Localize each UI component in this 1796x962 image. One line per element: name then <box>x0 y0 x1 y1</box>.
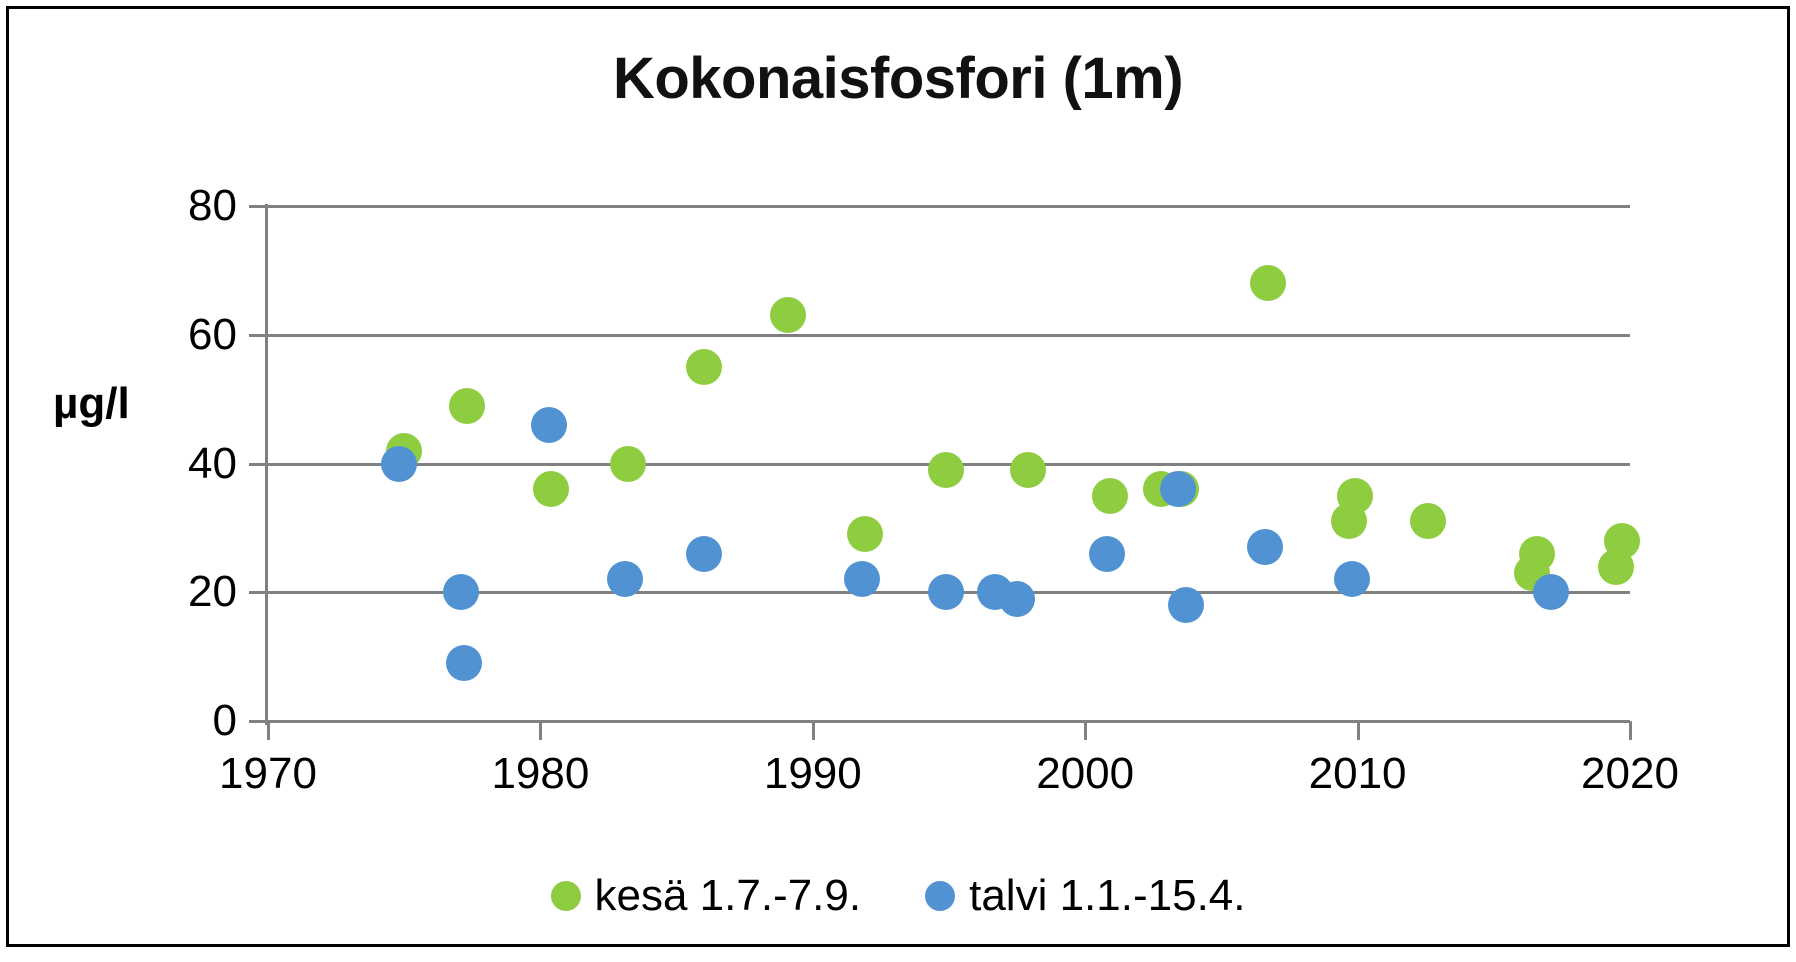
data-point-kesa-4 <box>686 349 722 385</box>
data-point-talvi-7 <box>928 574 964 610</box>
data-point-kesa-14 <box>1337 478 1373 514</box>
data-point-talvi-6 <box>844 561 880 597</box>
x-tick-1980 <box>539 721 542 740</box>
y-tick-20 <box>249 591 268 594</box>
data-point-talvi-4 <box>607 561 643 597</box>
x-tick-1990 <box>812 721 815 740</box>
data-point-kesa-6 <box>847 516 883 552</box>
x-tick-label-2020: 2020 <box>1581 749 1679 799</box>
y-tick-60 <box>249 334 268 337</box>
data-point-talvi-1 <box>443 574 479 610</box>
legend-label: kesä 1.7.-7.9. <box>595 871 862 921</box>
y-tick-label-60: 60 <box>117 310 237 360</box>
legend-label: talvi 1.1.-15.4. <box>969 871 1245 921</box>
x-tick-2020 <box>1629 721 1632 740</box>
x-tick-2000 <box>1084 721 1087 740</box>
data-point-talvi-3 <box>531 407 567 443</box>
circle-marker-icon <box>925 881 955 911</box>
y-axis-tick-labels: 020406080 <box>69 9 237 962</box>
y-tick-label-80: 80 <box>117 181 237 231</box>
x-tick-2010 <box>1357 721 1360 740</box>
data-point-kesa-9 <box>1092 478 1128 514</box>
circle-marker-icon <box>551 881 581 911</box>
legend-item-0[interactable]: kesä 1.7.-7.9. <box>551 871 862 921</box>
data-point-kesa-2 <box>533 471 569 507</box>
y-tick-label-40: 40 <box>117 439 237 489</box>
y-tick-label-0: 0 <box>117 696 237 746</box>
data-point-kesa-3 <box>610 446 646 482</box>
y-tick-80 <box>249 205 268 208</box>
data-point-talvi-5 <box>686 536 722 572</box>
plot-area <box>268 206 1630 721</box>
y-tick-40 <box>249 463 268 466</box>
chart-title: Kokonaisfosfori (1m) <box>9 45 1787 112</box>
x-tick-label-1980: 1980 <box>491 749 589 799</box>
x-tick-label-2000: 2000 <box>1036 749 1134 799</box>
data-point-kesa-8 <box>1010 452 1046 488</box>
y-tick-label-20: 20 <box>117 567 237 617</box>
data-point-kesa-19 <box>1604 523 1640 559</box>
data-point-kesa-7 <box>928 452 964 488</box>
x-tick-label-1970: 1970 <box>219 749 317 799</box>
data-point-talvi-0 <box>381 446 417 482</box>
data-point-talvi-2 <box>446 645 482 681</box>
x-tick-label-1990: 1990 <box>764 749 862 799</box>
data-point-talvi-10 <box>1089 536 1125 572</box>
data-point-kesa-15 <box>1410 503 1446 539</box>
data-point-talvi-15 <box>1533 574 1569 610</box>
data-point-talvi-12 <box>1168 587 1204 623</box>
data-point-kesa-1 <box>449 388 485 424</box>
data-point-talvi-9 <box>999 581 1035 617</box>
x-tick-label-2010: 2010 <box>1309 749 1407 799</box>
data-point-kesa-5 <box>770 297 806 333</box>
legend-item-1[interactable]: talvi 1.1.-15.4. <box>925 871 1245 921</box>
chart-legend: kesä 1.7.-7.9.talvi 1.1.-15.4. <box>9 871 1787 921</box>
data-point-kesa-17 <box>1519 536 1555 572</box>
data-point-talvi-13 <box>1247 529 1283 565</box>
data-point-kesa-12 <box>1250 265 1286 301</box>
x-tick-1970 <box>267 721 270 740</box>
y-tick-0 <box>249 720 268 723</box>
chart-frame: Kokonaisfosfori (1m) µg/l 020406080 1970… <box>6 6 1790 947</box>
data-point-talvi-11 <box>1160 471 1196 507</box>
data-point-talvi-14 <box>1334 561 1370 597</box>
